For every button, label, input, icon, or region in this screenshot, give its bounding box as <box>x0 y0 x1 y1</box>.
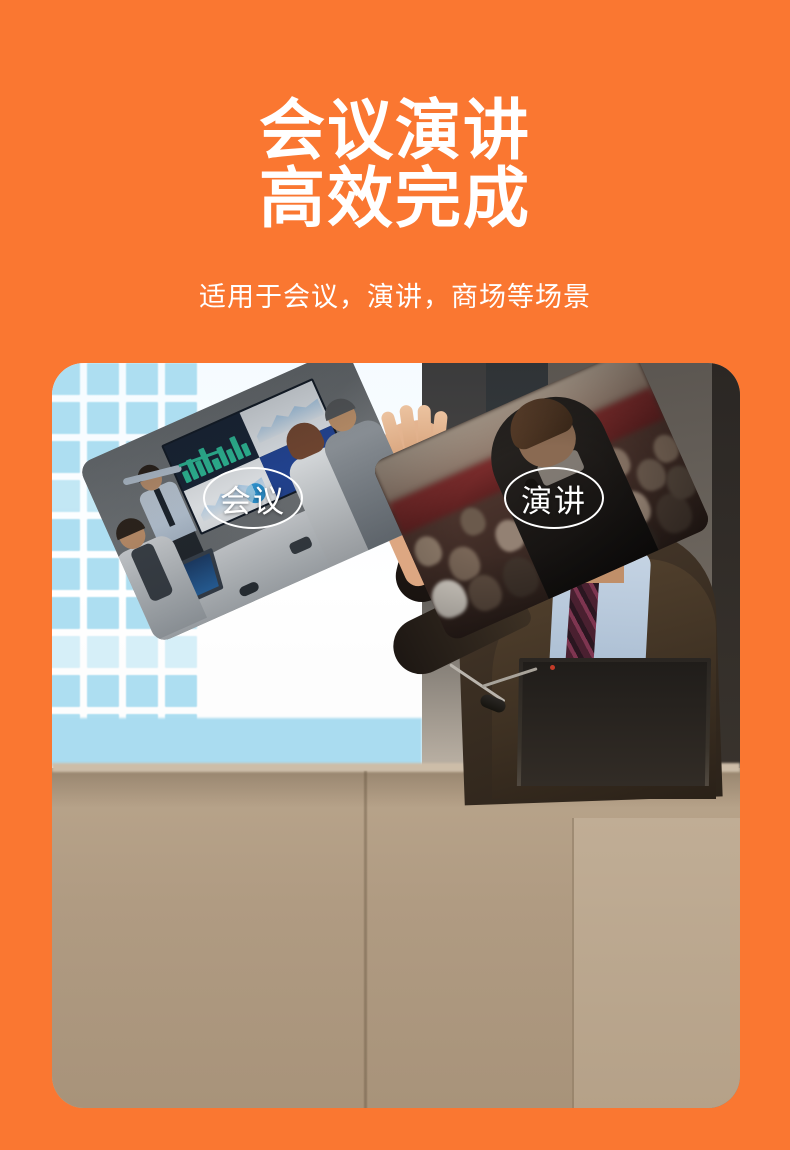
page-title: 会议演讲 高效完成 <box>0 96 790 232</box>
podium-laptop <box>517 658 711 786</box>
microphone-indicator <box>550 665 555 670</box>
projection-blue-band <box>52 718 422 766</box>
promo-page: 会议演讲 高效完成 适用于会议，演讲，商场等场景 <box>0 0 790 1150</box>
page-subtitle: 适用于会议，演讲，商场等场景 <box>0 275 790 314</box>
label-meeting: 会议 <box>203 467 303 529</box>
hero-image-card <box>52 363 740 1108</box>
label-speech: 演讲 <box>504 467 604 529</box>
podium-right-panel <box>572 818 740 1108</box>
headline-line-2: 高效完成 <box>0 164 790 232</box>
headline-line-1: 会议演讲 <box>0 96 790 164</box>
podium-seam <box>364 771 367 1108</box>
